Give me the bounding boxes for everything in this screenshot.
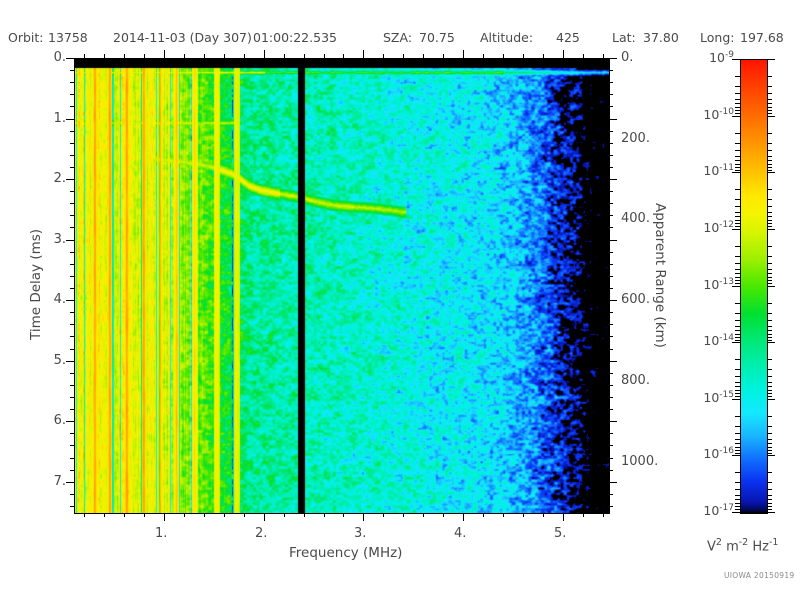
axis-tick-label: 4. bbox=[454, 526, 466, 541]
colorbar-tick bbox=[735, 223, 740, 224]
colorbar-tick bbox=[767, 246, 772, 247]
colorbar-tick-label: 10-15 bbox=[682, 390, 734, 405]
axis-tick-label: 1. bbox=[38, 111, 66, 126]
axis-tick bbox=[609, 215, 613, 216]
colorbar-tick bbox=[767, 216, 772, 217]
axis-tick bbox=[66, 300, 74, 301]
axis-tick bbox=[304, 54, 305, 58]
axis-tick bbox=[609, 203, 613, 204]
axis-tick bbox=[609, 324, 613, 325]
colorbar-tick bbox=[735, 369, 740, 370]
colorbar-tick-label: 10-11 bbox=[682, 163, 734, 178]
colorbar-tick bbox=[735, 453, 740, 454]
colorbar-tick bbox=[735, 133, 740, 134]
axis-tick bbox=[104, 513, 105, 517]
spectrogram-plot-area bbox=[74, 58, 610, 514]
axis-tick bbox=[603, 513, 604, 517]
axis-tick bbox=[70, 324, 74, 325]
axis-tick bbox=[70, 70, 74, 71]
colorbar-tick bbox=[735, 340, 740, 341]
axis-tick bbox=[609, 143, 613, 144]
colorbar-tick-label: 10-9 bbox=[682, 50, 734, 65]
colorbar-tick bbox=[767, 280, 772, 281]
axis-tick bbox=[66, 58, 74, 59]
axis-tick bbox=[609, 240, 617, 241]
colorbar-tick bbox=[735, 164, 740, 165]
axis-tick bbox=[284, 513, 285, 517]
colorbar-tick bbox=[767, 342, 775, 343]
colorbar-tick bbox=[735, 170, 740, 171]
long-label: Long: bbox=[700, 30, 734, 45]
colorbar-tick bbox=[735, 150, 740, 151]
axis-tick bbox=[503, 54, 504, 58]
colorbar-tick bbox=[735, 447, 740, 448]
colorbar-tick bbox=[735, 167, 740, 168]
colorbar-tick bbox=[735, 113, 740, 114]
axis-tick bbox=[403, 54, 404, 58]
colorbar-tick bbox=[767, 269, 772, 270]
axis-tick bbox=[609, 276, 613, 277]
observation-date: 2014-11-03 (Day 307) bbox=[113, 30, 252, 45]
colorbar-tick bbox=[767, 113, 772, 114]
colorbar-tick bbox=[767, 107, 772, 108]
axis-tick bbox=[343, 513, 344, 517]
colorbar-tick bbox=[767, 256, 772, 257]
axis-tick bbox=[70, 445, 74, 446]
colorbar-tick bbox=[767, 472, 772, 473]
colorbar-tick bbox=[767, 443, 772, 444]
colorbar-tick bbox=[735, 76, 740, 77]
axis-tick-label: 1000. bbox=[621, 454, 658, 469]
colorbar-tick bbox=[767, 273, 772, 274]
colorbar-tick bbox=[767, 283, 772, 284]
axis-tick bbox=[70, 167, 74, 168]
colorbar-tick bbox=[767, 303, 772, 304]
colorbar-tick bbox=[767, 340, 772, 341]
axis-tick bbox=[70, 203, 74, 204]
axis-tick bbox=[609, 482, 617, 483]
axis-tick bbox=[423, 54, 424, 58]
colorbar-tick bbox=[735, 86, 740, 87]
colorbar-tick bbox=[767, 447, 772, 448]
colorbar-tick bbox=[735, 107, 740, 108]
colorbar-tick bbox=[767, 359, 772, 360]
colorbar-tick bbox=[735, 280, 740, 281]
axis-tick bbox=[70, 82, 74, 83]
x-axis-title: Frequency (MHz) bbox=[289, 545, 402, 561]
colorbar-tick bbox=[767, 99, 772, 100]
colorbar-tick bbox=[735, 326, 740, 327]
axis-tick-label: 800. bbox=[621, 373, 650, 388]
colorbar-tick-label: 10-14 bbox=[682, 333, 734, 348]
axis-tick bbox=[70, 94, 74, 95]
colorbar-gradient bbox=[741, 60, 767, 513]
axis-tick-label: 5. bbox=[554, 526, 566, 541]
colorbar-tick bbox=[767, 386, 772, 387]
axis-tick bbox=[609, 445, 613, 446]
axis-tick bbox=[70, 506, 74, 507]
axis-tick bbox=[70, 106, 74, 107]
axis-tick bbox=[609, 131, 613, 132]
axis-tick bbox=[70, 264, 74, 265]
axis-tick bbox=[224, 513, 225, 517]
colorbar-tick bbox=[767, 337, 772, 338]
axis-tick bbox=[70, 385, 74, 386]
colorbar-tick bbox=[767, 506, 772, 507]
axis-tick bbox=[609, 179, 617, 180]
colorbar-tick bbox=[767, 76, 772, 77]
colorbar-tick bbox=[735, 93, 740, 94]
axis-tick bbox=[70, 312, 74, 313]
axis-tick bbox=[583, 54, 584, 58]
axis-tick bbox=[609, 227, 613, 228]
credit-text: UIOWA 20150919 bbox=[724, 571, 795, 580]
axis-tick bbox=[184, 513, 185, 517]
colorbar-tick bbox=[767, 229, 775, 230]
colorbar-tick bbox=[735, 386, 740, 387]
colorbar-tick bbox=[735, 426, 740, 427]
long-value: 197.68 bbox=[740, 30, 784, 45]
axis-tick bbox=[184, 54, 185, 58]
axis-tick bbox=[70, 470, 74, 471]
colorbar-tick bbox=[735, 393, 740, 394]
axis-tick-label: 6. bbox=[38, 413, 66, 428]
colorbar-tick bbox=[767, 450, 772, 451]
axis-tick bbox=[609, 312, 613, 313]
colorbar-tick bbox=[735, 337, 740, 338]
colorbar-tick bbox=[735, 416, 740, 417]
axis-tick bbox=[609, 252, 613, 253]
colorbar-tick bbox=[735, 396, 740, 397]
axis-tick bbox=[363, 513, 364, 521]
axis-tick bbox=[383, 54, 384, 58]
axis-tick bbox=[463, 513, 464, 521]
colorbar-tick bbox=[767, 116, 775, 117]
axis-tick bbox=[284, 54, 285, 58]
colorbar-tick bbox=[767, 170, 772, 171]
colorbar-tick bbox=[735, 359, 740, 360]
colorbar-tick bbox=[767, 189, 772, 190]
axis-tick bbox=[104, 54, 105, 58]
axis-tick bbox=[609, 155, 613, 156]
axis-tick bbox=[70, 276, 74, 277]
axis-tick bbox=[609, 361, 617, 362]
axis-tick bbox=[563, 50, 564, 58]
axis-tick bbox=[204, 513, 205, 517]
axis-tick bbox=[609, 385, 613, 386]
axis-tick bbox=[70, 336, 74, 337]
axis-tick bbox=[144, 54, 145, 58]
axis-tick bbox=[70, 373, 74, 374]
axis-tick bbox=[609, 349, 613, 350]
axis-tick bbox=[609, 433, 613, 434]
colorbar-tick bbox=[767, 509, 772, 510]
colorbar-tick bbox=[767, 172, 775, 173]
colorbar-tick bbox=[735, 160, 740, 161]
axis-tick bbox=[70, 191, 74, 192]
colorbar-tick bbox=[767, 212, 772, 213]
axis-tick bbox=[423, 513, 424, 517]
colorbar-tick bbox=[735, 206, 740, 207]
colorbar-tick bbox=[767, 334, 772, 335]
axis-tick bbox=[70, 143, 74, 144]
axis-tick bbox=[483, 54, 484, 58]
axis-tick bbox=[609, 70, 613, 71]
axis-tick-label: 2. bbox=[38, 171, 66, 186]
axis-tick-label: 1. bbox=[155, 526, 167, 541]
axis-tick bbox=[70, 155, 74, 156]
colorbar-tick bbox=[735, 269, 740, 270]
axis-tick bbox=[523, 513, 524, 517]
axis-tick bbox=[70, 433, 74, 434]
colorbar-tick bbox=[735, 509, 740, 510]
y-axis-title: Time Delay (ms) bbox=[28, 229, 44, 340]
colorbar-tick bbox=[735, 390, 740, 391]
axis-tick bbox=[609, 336, 613, 337]
colorbar-tick-label: 10-16 bbox=[682, 446, 734, 461]
axis-tick bbox=[609, 58, 617, 59]
axis-tick bbox=[70, 458, 74, 459]
axis-tick-label: 7. bbox=[38, 474, 66, 489]
colorbar-tick bbox=[767, 495, 772, 496]
colorbar-tick bbox=[767, 93, 772, 94]
colorbar-tick bbox=[767, 160, 772, 161]
colorbar-tick bbox=[767, 376, 772, 377]
colorbar-tick bbox=[767, 455, 775, 456]
axis-tick bbox=[70, 215, 74, 216]
axis-tick-label: 0. bbox=[38, 50, 66, 65]
colorbar-tick bbox=[735, 143, 740, 144]
colorbar-tick bbox=[767, 110, 772, 111]
axis-tick bbox=[609, 191, 613, 192]
colorbar-tick bbox=[767, 167, 772, 168]
colorbar-tick bbox=[767, 426, 772, 427]
axis-tick bbox=[563, 513, 564, 521]
colorbar-tick bbox=[767, 133, 772, 134]
axis-tick bbox=[84, 513, 85, 517]
colorbar-tick bbox=[735, 450, 740, 451]
orbit-label: Orbit: bbox=[8, 30, 44, 45]
axis-tick-label: 0. bbox=[621, 50, 633, 65]
colorbar-tick bbox=[767, 286, 775, 287]
axis-tick bbox=[70, 288, 74, 289]
colorbar-tick bbox=[767, 320, 772, 321]
axis-tick bbox=[324, 54, 325, 58]
colorbar-tick bbox=[767, 489, 772, 490]
axis-tick bbox=[609, 288, 613, 289]
axis-tick bbox=[70, 252, 74, 253]
colorbar-tick bbox=[735, 506, 740, 507]
axis-tick bbox=[403, 513, 404, 517]
colorbar-tick-label: 10-13 bbox=[682, 277, 734, 292]
axis-tick bbox=[164, 513, 165, 521]
colorbar-tick bbox=[735, 226, 740, 227]
colorbar-tick bbox=[767, 156, 772, 157]
axis-tick bbox=[383, 513, 384, 517]
colorbar-tick bbox=[767, 59, 775, 60]
axis-tick bbox=[609, 506, 613, 507]
colorbar-tick bbox=[767, 416, 772, 417]
axis-tick bbox=[144, 513, 145, 517]
colorbar-tick bbox=[735, 212, 740, 213]
colorbar-tick bbox=[735, 277, 740, 278]
colorbar-tick bbox=[735, 334, 740, 335]
colorbar-tick bbox=[735, 256, 740, 257]
axis-tick bbox=[463, 50, 464, 58]
axis-tick bbox=[483, 513, 484, 517]
colorbar-tick bbox=[735, 433, 740, 434]
axis-tick bbox=[609, 373, 613, 374]
axis-tick-label: 400. bbox=[621, 211, 650, 226]
observation-time: 01:00:22.535 bbox=[253, 30, 337, 45]
colorbar-tick bbox=[767, 326, 772, 327]
axis-tick bbox=[70, 397, 74, 398]
axis-tick-label: 200. bbox=[621, 131, 650, 146]
colorbar-tick-label: 10-17 bbox=[682, 503, 734, 518]
axis-tick bbox=[66, 482, 74, 483]
colorbar-tick bbox=[735, 320, 740, 321]
axis-tick bbox=[124, 513, 125, 517]
sza-label: SZA: bbox=[383, 30, 412, 45]
axis-tick bbox=[224, 54, 225, 58]
axis-tick bbox=[609, 421, 617, 422]
axis-tick bbox=[583, 513, 584, 517]
colorbar-tick bbox=[735, 110, 740, 111]
lat-label: Lat: bbox=[612, 30, 636, 45]
colorbar-tick bbox=[767, 103, 772, 104]
colorbar-tick bbox=[767, 206, 772, 207]
axis-tick bbox=[124, 54, 125, 58]
colorbar-tick-label: 10-12 bbox=[682, 220, 734, 235]
axis-tick bbox=[523, 54, 524, 58]
colorbar-tick bbox=[735, 330, 740, 331]
colorbar-tick bbox=[735, 503, 740, 504]
lat-value: 37.80 bbox=[643, 30, 679, 45]
colorbar-tick bbox=[767, 150, 772, 151]
axis-tick bbox=[244, 513, 245, 517]
colorbar-tick bbox=[767, 223, 772, 224]
colorbar-tick bbox=[767, 433, 772, 434]
axis-tick bbox=[609, 119, 617, 120]
axis-tick bbox=[503, 513, 504, 517]
axis-tick bbox=[609, 397, 613, 398]
colorbar-tick bbox=[735, 499, 740, 500]
axis-tick bbox=[66, 179, 74, 180]
y2-axis-title: Apparent Range (km) bbox=[652, 203, 668, 348]
colorbar-tick bbox=[767, 439, 772, 440]
axis-tick bbox=[443, 54, 444, 58]
axis-tick bbox=[609, 94, 613, 95]
altitude-label: Altitude: bbox=[480, 30, 533, 45]
axis-tick bbox=[264, 513, 265, 521]
colorbar-tick bbox=[735, 156, 740, 157]
axis-tick bbox=[70, 227, 74, 228]
colorbar-tick bbox=[735, 495, 740, 496]
colorbar-tick bbox=[767, 512, 775, 513]
axis-tick bbox=[343, 54, 344, 58]
axis-tick bbox=[609, 167, 613, 168]
colorbar-tick bbox=[735, 376, 740, 377]
colorbar-tick bbox=[767, 226, 772, 227]
axis-tick bbox=[609, 494, 613, 495]
colorbar-tick bbox=[767, 396, 772, 397]
axis-tick bbox=[543, 54, 544, 58]
axis-tick bbox=[204, 54, 205, 58]
axis-tick bbox=[609, 470, 613, 471]
axis-tick bbox=[66, 240, 74, 241]
axis-tick bbox=[70, 409, 74, 410]
colorbar-tick bbox=[735, 199, 740, 200]
colorbar-tick bbox=[735, 482, 740, 483]
colorbar-tick bbox=[767, 330, 772, 331]
colorbar-tick bbox=[767, 369, 772, 370]
colorbar-tick bbox=[735, 189, 740, 190]
sza-value: 70.75 bbox=[419, 30, 455, 45]
axis-tick-label: 600. bbox=[621, 292, 650, 307]
colorbar-tick bbox=[735, 303, 740, 304]
axis-tick bbox=[609, 409, 613, 410]
altitude-value: 425 bbox=[556, 30, 580, 45]
colorbar-tick bbox=[767, 382, 772, 383]
axis-tick bbox=[264, 50, 265, 58]
colorbar-tick bbox=[735, 472, 740, 473]
colorbar-tick bbox=[767, 164, 772, 165]
axis-tick bbox=[324, 513, 325, 517]
axis-tick bbox=[70, 131, 74, 132]
colorbar-tick bbox=[735, 220, 740, 221]
axis-tick bbox=[609, 264, 613, 265]
colorbar-tick bbox=[735, 99, 740, 100]
colorbar-tick bbox=[735, 246, 740, 247]
colorbar-tick bbox=[735, 283, 740, 284]
colorbar-tick bbox=[735, 103, 740, 104]
axis-tick-label: 2. bbox=[255, 526, 267, 541]
axis-tick bbox=[66, 361, 74, 362]
colorbar-tick bbox=[767, 86, 772, 87]
ionogram-figure: Orbit: 13758 2014-11-03 (Day 307) 01:00:… bbox=[0, 0, 800, 600]
colorbar-tick bbox=[735, 489, 740, 490]
axis-tick bbox=[609, 458, 613, 459]
colorbar-tick bbox=[767, 143, 772, 144]
axis-tick bbox=[609, 82, 613, 83]
axis-tick-label: 5. bbox=[38, 353, 66, 368]
colorbar-tick bbox=[767, 220, 772, 221]
colorbar-tick bbox=[735, 313, 740, 314]
colorbar-tick bbox=[767, 263, 772, 264]
axis-tick bbox=[66, 119, 74, 120]
colorbar-tick bbox=[735, 439, 740, 440]
header-metadata: Orbit: 13758 2014-11-03 (Day 307) 01:00:… bbox=[0, 30, 800, 48]
colorbar-tick bbox=[767, 399, 775, 400]
axis-tick bbox=[304, 513, 305, 517]
colorbar-tick bbox=[735, 443, 740, 444]
colorbar-tick bbox=[735, 382, 740, 383]
axis-tick bbox=[603, 54, 604, 58]
axis-tick bbox=[66, 421, 74, 422]
colorbar-tick bbox=[767, 313, 772, 314]
colorbar-tick bbox=[735, 273, 740, 274]
axis-tick bbox=[363, 50, 364, 58]
colorbar-unit-label: V2 m-2 Hz-1 bbox=[707, 537, 778, 554]
colorbar-tick bbox=[767, 393, 772, 394]
axis-tick bbox=[84, 54, 85, 58]
colorbar-tick bbox=[767, 499, 772, 500]
axis-tick bbox=[164, 50, 165, 58]
colorbar-tick bbox=[767, 277, 772, 278]
colorbar-tick bbox=[735, 263, 740, 264]
axis-tick bbox=[609, 300, 617, 301]
axis-tick bbox=[543, 513, 544, 517]
